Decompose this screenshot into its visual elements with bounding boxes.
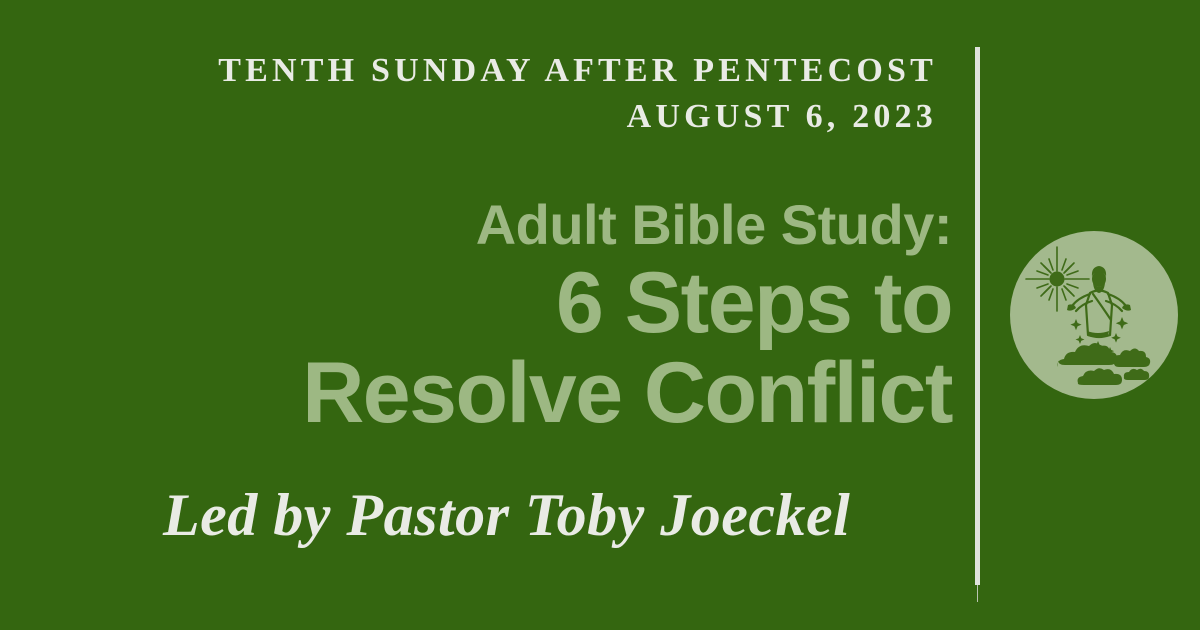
liturgical-day-label: Tenth Sunday After Pentecost xyxy=(0,48,937,94)
ascension-badge xyxy=(1010,231,1178,399)
jesus-figure-icon xyxy=(1092,266,1106,293)
service-header: Tenth Sunday After Pentecost August 6, 2… xyxy=(0,48,937,140)
title-line-main-1: 6 Steps to xyxy=(0,258,952,348)
title-line-main-2: Resolve Conflict xyxy=(0,348,952,438)
ascension-icon xyxy=(1010,231,1178,399)
page-title: Adult Bible Study: 6 Steps to Resolve Co… xyxy=(0,192,952,438)
title-line-subject: Adult Bible Study: xyxy=(0,192,952,258)
presenter-byline: Led by Pastor Toby Joeckel xyxy=(163,478,850,552)
service-date-label: August 6, 2023 xyxy=(0,94,937,140)
sun-core-icon xyxy=(1050,272,1065,287)
service-slide: Tenth Sunday After Pentecost August 6, 2… xyxy=(0,0,1200,630)
jesus-robe-icon xyxy=(1072,291,1126,338)
vertical-divider xyxy=(975,47,980,585)
clouds-icon xyxy=(1058,343,1151,385)
vertical-divider-tail xyxy=(977,585,978,602)
